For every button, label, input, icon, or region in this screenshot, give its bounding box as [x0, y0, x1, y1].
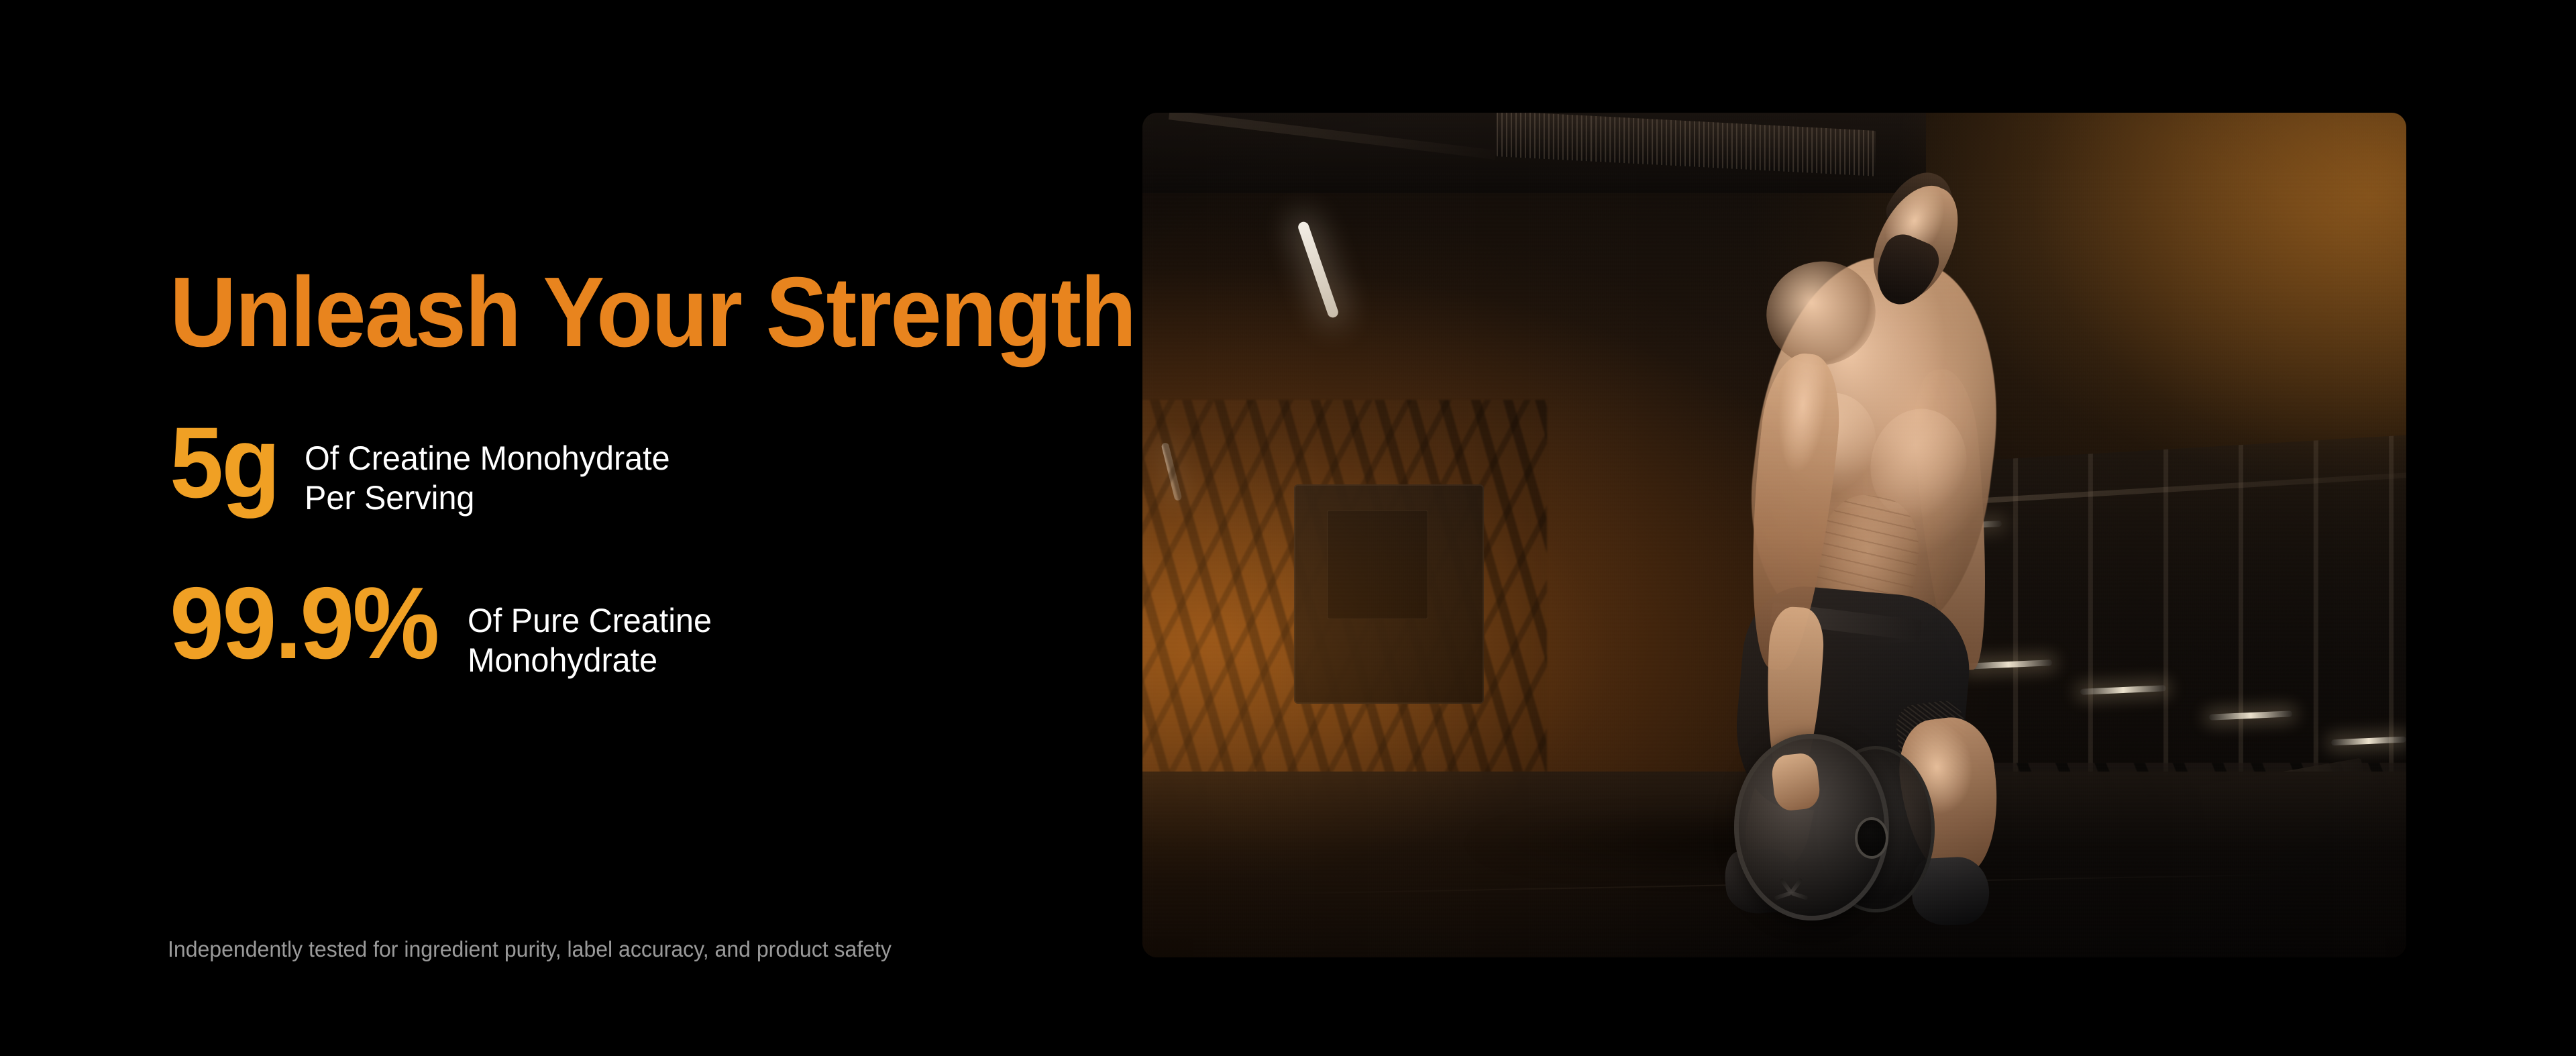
- gym-scene: [1142, 113, 2406, 957]
- copy-column: Unleash Your Strength 5g Of Creatine Mon…: [170, 0, 1062, 1056]
- hand-gripping-plate: [1770, 751, 1821, 811]
- machine-console-screen: [1327, 510, 1428, 620]
- athlete-figure: [1648, 146, 2103, 940]
- stat-description-line-2: Per Serving: [305, 478, 670, 518]
- testing-disclaimer: Independently tested for ingredient puri…: [168, 936, 892, 963]
- weight-plate-hub: [1855, 817, 1888, 859]
- stat-description-line-2: Monohydrate: [468, 641, 712, 680]
- stat-description: Of Pure Creatine Monohydrate: [468, 601, 712, 680]
- hero-image: [1142, 113, 2406, 957]
- stat-block-creatine-dose: 5g Of Creatine Monohydrate Per Serving: [170, 416, 681, 518]
- page-title: Unleash Your Strength: [170, 263, 1135, 362]
- stat-value: 5g: [170, 416, 281, 509]
- stat-block-purity: 99.9% Of Pure Creatine Monohydrate: [170, 577, 719, 680]
- stat-description: Of Creatine Monohydrate Per Serving: [305, 439, 670, 518]
- promo-banner: Unleash Your Strength 5g Of Creatine Mon…: [0, 0, 2576, 1056]
- stat-value: 99.9%: [170, 577, 437, 671]
- plate-spoke: [1790, 891, 1809, 900]
- stat-description-line-1: Of Pure Creatine: [468, 601, 712, 641]
- stat-description-line-1: Of Creatine Monohydrate: [305, 439, 670, 478]
